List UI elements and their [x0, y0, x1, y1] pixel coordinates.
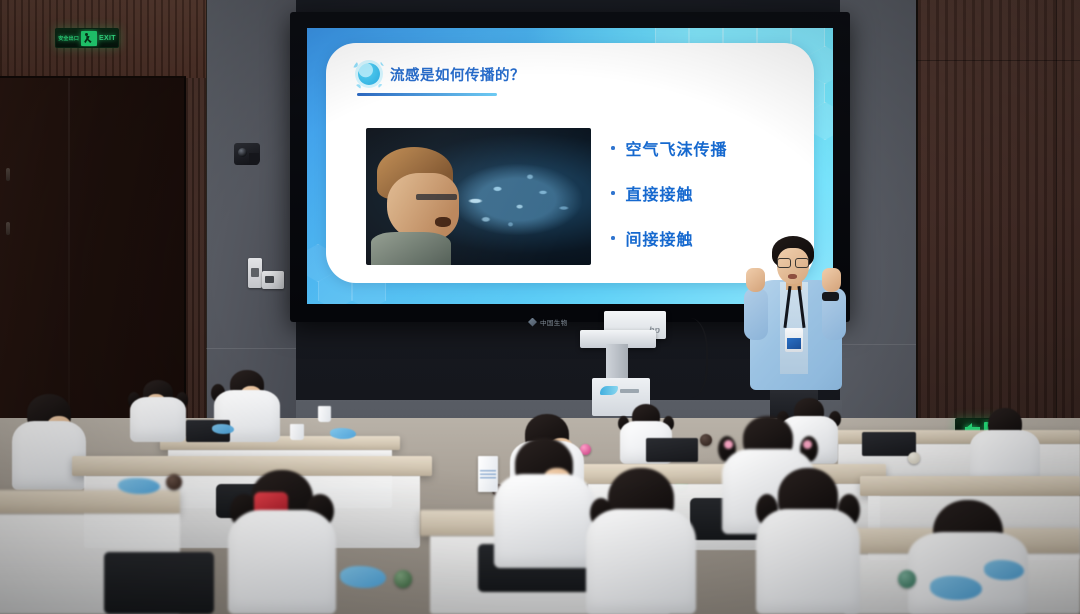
- white-ball: [908, 452, 920, 464]
- id-badge: [785, 328, 803, 352]
- podium-column: [606, 344, 628, 380]
- dark-ball: [700, 434, 712, 446]
- blue-glove: [984, 560, 1024, 580]
- running-man-icon: [81, 31, 97, 46]
- lab-coat: [228, 510, 336, 614]
- bullet-label-1: 空气飞沫传播: [626, 136, 728, 160]
- gray-pillar-left: [206, 0, 296, 418]
- blue-glove: [212, 424, 234, 434]
- bullet-label-3: 间接接触: [626, 226, 694, 250]
- presenter-hand-right: [822, 268, 841, 292]
- wall-control-panel-a[interactable]: [248, 258, 262, 288]
- bullet-dot-icon: [611, 236, 615, 240]
- title-underline: [357, 93, 497, 96]
- tablet-icon[interactable]: [862, 432, 916, 456]
- lab-coat: [130, 397, 186, 442]
- right-wood-seam-vertical: [1056, 0, 1057, 430]
- paper-cup: [290, 424, 304, 440]
- sneeze-photo: [366, 128, 591, 265]
- bullet-item-1: 空气飞沫传播: [611, 136, 728, 160]
- ptz-camera-icon: [234, 143, 260, 165]
- tablet-icon[interactable]: [646, 438, 698, 462]
- photo-person-mouth: [435, 217, 452, 228]
- presenter-mouth: [788, 274, 797, 279]
- student-s11: [494, 438, 594, 568]
- desk-mid-right: [860, 476, 1080, 496]
- chair-near[interactable]: [104, 552, 214, 614]
- green-ball: [394, 570, 412, 588]
- lab-coat: [586, 509, 696, 614]
- bullet-dot-icon: [611, 146, 615, 150]
- classroom-scene: 安全出口 EXIT: [0, 0, 1080, 614]
- photo-person-glasses: [416, 194, 457, 200]
- door-seam: [68, 78, 70, 418]
- photo-person-shirt: [371, 232, 452, 265]
- photo-person: [371, 147, 475, 265]
- door-handle-lower[interactable]: [6, 222, 10, 235]
- bullet-dot-icon: [611, 191, 615, 195]
- slide-title: 流感是如何传播的？: [390, 64, 525, 85]
- presenter-arm-left: [744, 288, 768, 340]
- blue-glove: [930, 576, 982, 600]
- slide-content-card: 流感是如何传播的？ 空气飞沫传播: [326, 43, 814, 283]
- presenter: [742, 236, 852, 416]
- presenter-glasses: [777, 258, 809, 266]
- right-wood-seam-horizontal: [916, 60, 1080, 61]
- student-s10: [756, 468, 860, 614]
- lab-coat: [756, 509, 860, 614]
- door-handle-upper[interactable]: [6, 168, 10, 181]
- pillar-seam: [206, 348, 296, 349]
- paper-cup: [318, 406, 331, 422]
- green-ball: [898, 570, 916, 588]
- dark-ball: [166, 474, 182, 490]
- hair-tie: [724, 440, 733, 449]
- lab-coat: [494, 474, 594, 568]
- student-s13: [970, 408, 1040, 486]
- display-brand-badge: 中国生物: [528, 316, 586, 328]
- display-brand-text: 中国生物: [540, 317, 568, 327]
- monitor-cable: [664, 318, 708, 398]
- exit-sign-left-en: EXIT: [99, 35, 116, 42]
- student-s4: [586, 468, 696, 614]
- bullet-item-2: 直接接触: [611, 181, 728, 205]
- blue-glove: [330, 428, 356, 439]
- smartwatch: [822, 292, 839, 301]
- slide-header: 流感是如何传播的？: [358, 63, 525, 85]
- hair-tie: [803, 440, 812, 449]
- diamond-logo-icon: [528, 318, 537, 327]
- bullet-list: 空气飞沫传播 直接接触 间接接触: [611, 136, 728, 271]
- student-s5: [228, 470, 336, 614]
- desk-near-left: [0, 490, 180, 514]
- exit-door-left[interactable]: [0, 76, 186, 418]
- exit-sign-left-cn: 安全出口: [58, 35, 79, 42]
- blue-glove: [340, 566, 386, 588]
- bullet-label-2: 直接接触: [626, 181, 694, 205]
- wall-control-panel-b[interactable]: [262, 271, 284, 289]
- virus-icon: [358, 63, 380, 85]
- presenter-hand-left: [746, 268, 765, 292]
- podium-logo-icon: [598, 382, 642, 402]
- exit-sign-left: 安全出口 EXIT: [55, 28, 119, 48]
- blue-glove: [118, 478, 160, 494]
- student-s2: [130, 380, 186, 442]
- bullet-item-3: 间接接触: [611, 226, 728, 250]
